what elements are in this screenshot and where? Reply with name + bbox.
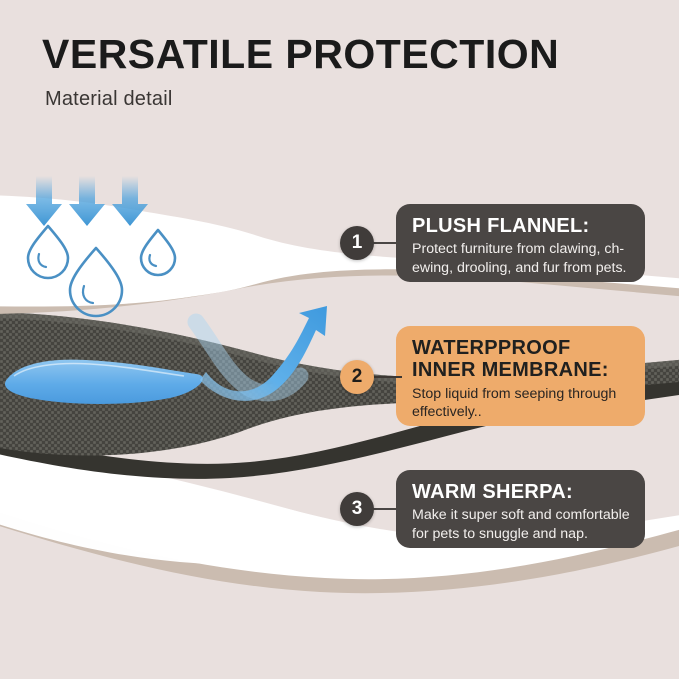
callout-3-body: Make it super soft and comfortable for p…: [412, 506, 631, 543]
callout-1-body-line1: Protect furniture from clawing, ch-: [412, 241, 624, 257]
callout-badge-1-number: 1: [352, 232, 363, 254]
callout-badge-3[interactable]: 3: [340, 492, 374, 526]
flannel-mass: [0, 196, 396, 307]
callout-badge-3-number: 3: [352, 498, 363, 520]
callout-2-body-line2: effectively..: [412, 404, 482, 420]
callout-3-body-line2: for pets to snuggle and nap.: [412, 526, 588, 542]
callout-1-body: Protect furniture from clawing, ch- ewin…: [412, 240, 631, 277]
callout-2-body-line1: Stop liquid from seeping through: [412, 386, 616, 402]
callout-2-title-line1: WATERPPROOF: [412, 337, 571, 359]
callout-box-waterproof-membrane[interactable]: WATERPPROOF INNER MEMBRANE: Stop liquid …: [396, 326, 645, 426]
callout-1-body-line2: ewing, drooling, and fur from pets.: [412, 260, 627, 276]
callout-2-title: WATERPPROOF INNER MEMBRANE:: [412, 337, 631, 382]
callout-2-body: Stop liquid from seeping through effecti…: [412, 385, 631, 422]
callout-badge-1[interactable]: 1: [340, 226, 374, 260]
callout-badge-2-number: 2: [352, 366, 363, 388]
callout-3-title: WARM SHERPA:: [412, 481, 631, 503]
callout-badge-2[interactable]: 2: [340, 360, 374, 394]
callout-box-plush-flannel[interactable]: PLUSH FLANNEL: Protect furniture from cl…: [396, 204, 645, 282]
callout-3-body-line1: Make it super soft and comfortable: [412, 507, 630, 523]
callout-box-warm-sherpa[interactable]: WARM SHERPA: Make it super soft and comf…: [396, 470, 645, 548]
infographic-page: VERSATILE PROTECTION Material detail: [0, 0, 679, 679]
water-down-arrows: [26, 176, 148, 226]
callout-2-title-line2: INNER MEMBRANE:: [412, 359, 609, 381]
callout-1-title: PLUSH FLANNEL:: [412, 215, 631, 237]
